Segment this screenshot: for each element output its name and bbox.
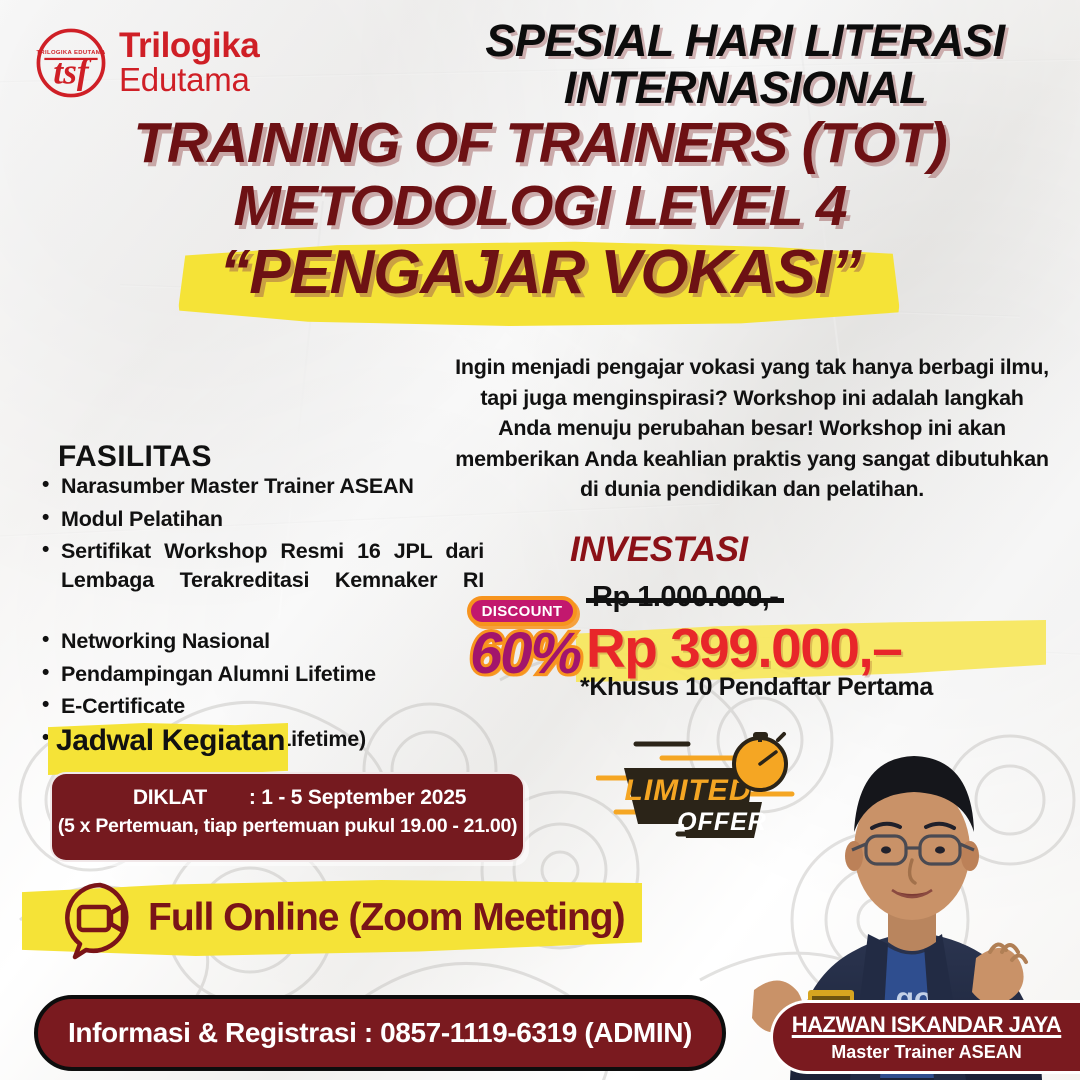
svg-text:tsf: tsf (53, 52, 92, 92)
title-line-2: METODOLOGI LEVEL 4 (40, 175, 1040, 238)
old-price: Rp 1.000.000,- (592, 581, 778, 614)
list-item: E-Certificate (34, 692, 484, 721)
brand-name-line1: Trilogika (119, 29, 259, 64)
investment-heading: INVESTASI (570, 530, 748, 570)
list-item: Networking Nasional (34, 627, 484, 656)
new-price: Rp 399.000,– (586, 616, 901, 680)
limited-offer-line1: LIMITED (625, 774, 752, 807)
kicker-heading: SPESIAL HARI LITERASI INTERNASIONAL (420, 18, 1070, 112)
schedule-label: DIKLAT (109, 786, 249, 810)
brand-logo: TRILOGIKA EDUTAMA tsf Trilogika Edutama (34, 26, 259, 100)
delivery-label: Full Online (Zoom Meeting) (148, 896, 625, 940)
list-item: Pendampingan Alumni Lifetime (34, 660, 484, 689)
list-item: Narasumber Master Trainer ASEAN (34, 472, 484, 501)
schedule-heading: Jadwal Kegiatan (56, 724, 285, 758)
discount-value: 60% (455, 620, 595, 687)
contact-bar[interactable]: Informasi & Registrasi : 0857-1119-6319 … (34, 995, 726, 1071)
kicker-line-2: INTERNASIONAL (420, 65, 1070, 112)
title-line-1: TRAINING OF TRAINERS (TOT) (40, 112, 1040, 175)
schedule-value: : 1 - 5 September 2025 (249, 786, 466, 809)
title-line-3: “PENGAJAR VOKASI” (219, 239, 860, 308)
discount-label: DISCOUNT (482, 603, 563, 620)
list-item: Sertifikat Workshop Resmi 16 JPL dari Le… (34, 537, 484, 623)
brand-name-line2: Edutama (119, 64, 259, 97)
kicker-line-1: SPESIAL HARI LITERASI (420, 18, 1070, 65)
presenter-name: HAZWAN ISKANDAR JAYA (792, 1012, 1062, 1038)
schedule-box: DIKLAT: 1 - 5 September 2025 (5 x Pertem… (50, 772, 525, 862)
trilogika-circle-monogram-icon: TRILOGIKA EDUTAMA tsf (34, 26, 108, 100)
zoom-video-camera-icon (58, 880, 142, 960)
schedule-note: (5 x Pertemuan, tiap pertemuan pukul 19.… (52, 815, 523, 838)
facilities-list: Narasumber Master Trainer ASEAN Modul Pe… (34, 472, 484, 757)
poster-canvas: TRILOGIKA EDUTAMA tsf Trilogika Edutama … (0, 0, 1080, 1080)
discount-badge: DISCOUNT 60% (455, 596, 595, 692)
contact-text: Informasi & Registrasi : 0857-1119-6319 … (68, 1017, 692, 1049)
facilities-heading: FASILITAS (58, 440, 212, 474)
presenter-nameplate: HAZWAN ISKANDAR JAYA Master Trainer ASEA… (770, 1000, 1080, 1074)
schedule-row: DIKLAT: 1 - 5 September 2025 (52, 786, 523, 810)
presenter-role: Master Trainer ASEAN (831, 1042, 1021, 1063)
intro-paragraph: Ingin menjadi pengajar vokasi yang tak h… (452, 352, 1052, 505)
list-item: Modul Pelatihan (34, 505, 484, 534)
